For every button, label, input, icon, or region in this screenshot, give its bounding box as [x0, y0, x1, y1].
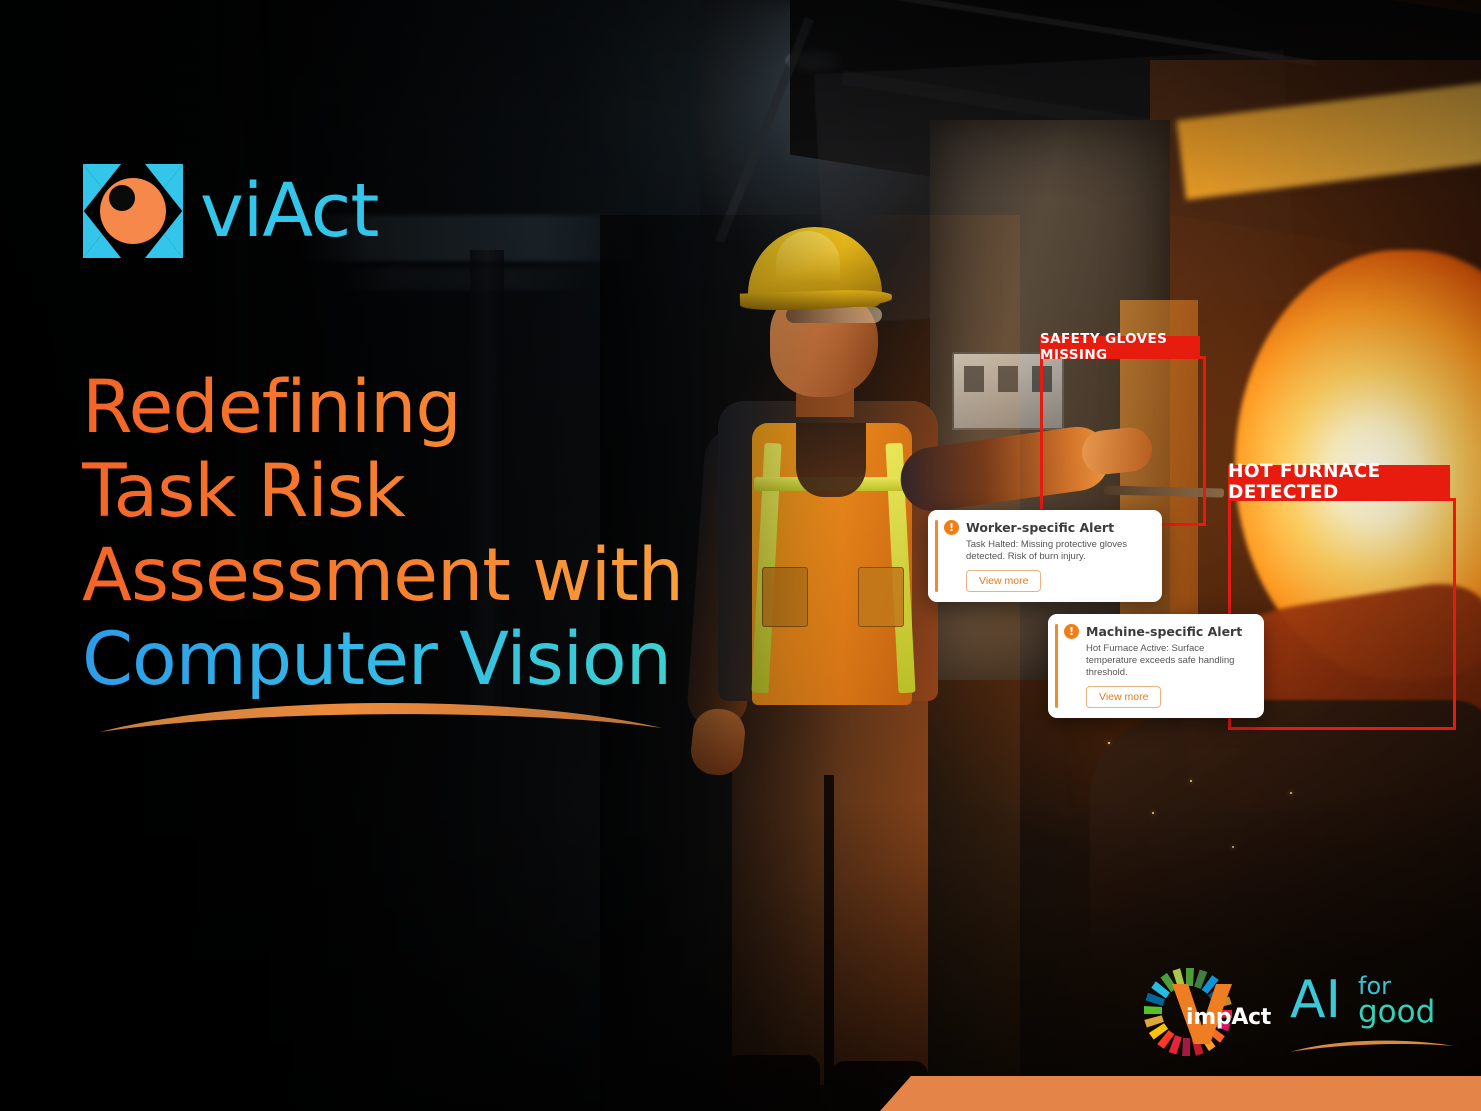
impact-wordmark: impAct: [1186, 1005, 1271, 1030]
warning-exclamation-icon: !: [944, 520, 959, 535]
alert-body-text: Task Halted: Missing protective gloves d…: [966, 539, 1150, 563]
headline-line-1: Redefining: [82, 366, 702, 450]
headline-line-3: Assessment with: [82, 534, 702, 618]
viact-logo[interactable]: viAct: [80, 160, 378, 262]
headline-line-2: Task Risk: [82, 450, 702, 534]
alert-header: ! Worker-specific Alert: [944, 520, 1150, 535]
aifg-underline-swoosh: [1288, 1036, 1456, 1054]
hero-banner: viAct Redefining Task Risk Assessment wi…: [0, 0, 1481, 1111]
alert-card-worker[interactable]: ! Worker-specific Alert Task Halted: Mis…: [928, 510, 1162, 602]
detection-label-gloves: SAFETY GLOVES MISSING: [1040, 336, 1200, 358]
alert-card-machine[interactable]: ! Machine-specific Alert Hot Furnace Act…: [1048, 614, 1264, 718]
aifg-good-text: good: [1358, 997, 1435, 1028]
alert-header: ! Machine-specific Alert: [1064, 624, 1252, 639]
headline-underline-swoosh: [96, 688, 666, 744]
alert-title: Worker-specific Alert: [966, 520, 1114, 535]
warning-exclamation-icon: !: [1064, 624, 1079, 639]
page-title: Redefining Task Risk Assessment with Com…: [82, 366, 702, 702]
alert-body-text: Hot Furnace Active: Surface temperature …: [1086, 643, 1252, 679]
aifg-ai-text: AI: [1290, 974, 1341, 1026]
view-more-button-machine[interactable]: View more: [1086, 686, 1161, 708]
viact-bowtie-eye-logo: [80, 160, 186, 262]
detection-box-gloves: [1040, 356, 1206, 526]
ai-for-good-logo[interactable]: AI for good: [1290, 972, 1450, 1054]
viact-wordmark: viAct: [200, 174, 378, 248]
detection-label-furnace: HOT FURNACE DETECTED: [1228, 465, 1450, 498]
alert-title: Machine-specific Alert: [1086, 624, 1242, 639]
view-more-button-worker[interactable]: View more: [966, 570, 1041, 592]
